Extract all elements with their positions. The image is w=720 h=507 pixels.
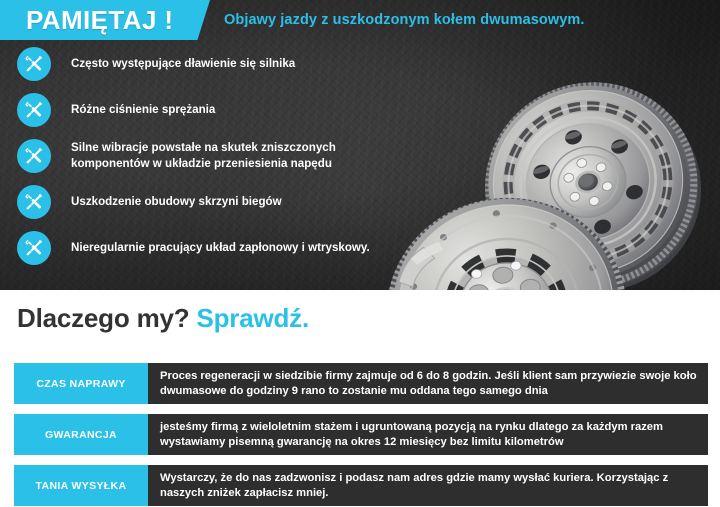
page-title: Dlaczego my? Sprawdź.	[17, 303, 309, 334]
list-item-label: Uszkodzenie obudowy skrzyni biegów	[71, 194, 282, 210]
why-title-accent: Sprawdź.	[196, 303, 309, 333]
tools-icon	[17, 47, 51, 81]
list-item: Uszkodzenie obudowy skrzyni biegów	[0, 185, 420, 219]
banner-tab-label: PAMIĘTAJ !	[0, 7, 173, 33]
infographic-page: PAMIĘTAJ ! Objawy jazdy z uszkodzonym ko…	[0, 0, 720, 507]
list-item: Często występujące dławienie się silnika	[0, 47, 420, 81]
table-row: CZAS NAPRAWY Proces regeneracji w siedzi…	[0, 363, 720, 404]
list-item: Różne ciśnienie sprężania	[0, 93, 420, 127]
banner-subtitle: Objawy jazdy z uszkodzonym kołem dwumaso…	[224, 0, 585, 40]
row-text-tania-wysylka: Wystarczy, że do nas zadzwonisz i podasz…	[148, 465, 708, 506]
row-label-tania-wysylka: TANIA WYSYŁKA	[14, 465, 148, 506]
why-section: Dlaczego my? Sprawdź. CZAS NAPRAWY Proce…	[0, 290, 720, 507]
why-title-plain: Dlaczego my?	[17, 303, 196, 333]
list-item-label: Nieregularnie pracujący układ zapłonowy …	[71, 240, 370, 256]
list-item-label: Różne ciśnienie sprężania	[71, 102, 215, 118]
tools-icon	[17, 139, 51, 173]
list-item-label: Często występujące dławienie się silnika	[71, 56, 295, 72]
info-rows: CZAS NAPRAWY Proces regeneracji w siedzi…	[0, 363, 720, 507]
row-text-czas-naprawy: Proces regeneracji w siedzibie firmy zaj…	[148, 363, 708, 404]
list-item: Silne wibracje powstałe na skutek zniszc…	[0, 139, 420, 173]
tools-icon	[17, 231, 51, 265]
table-row: GWARANCJA jesteśmy firmą z wieloletnim s…	[0, 414, 720, 455]
banner: PAMIĘTAJ ! Objawy jazdy z uszkodzonym ko…	[0, 0, 720, 40]
symptom-list: Często występujące dławienie się silnika…	[0, 47, 420, 277]
list-item: Nieregularnie pracujący układ zapłonowy …	[0, 231, 420, 265]
row-text-gwarancja: jesteśmy firmą z wieloletnim stażem i ug…	[148, 414, 708, 455]
tools-icon	[17, 93, 51, 127]
row-label-czas-naprawy: CZAS NAPRAWY	[14, 363, 148, 404]
banner-tab: PAMIĘTAJ !	[0, 0, 210, 40]
row-label-gwarancja: GWARANCJA	[14, 414, 148, 455]
tools-icon	[17, 185, 51, 219]
table-row: TANIA WYSYŁKA Wystarczy, że do nas zadzw…	[0, 465, 720, 506]
list-item-label: Silne wibracje powstałe na skutek zniszc…	[71, 140, 401, 171]
